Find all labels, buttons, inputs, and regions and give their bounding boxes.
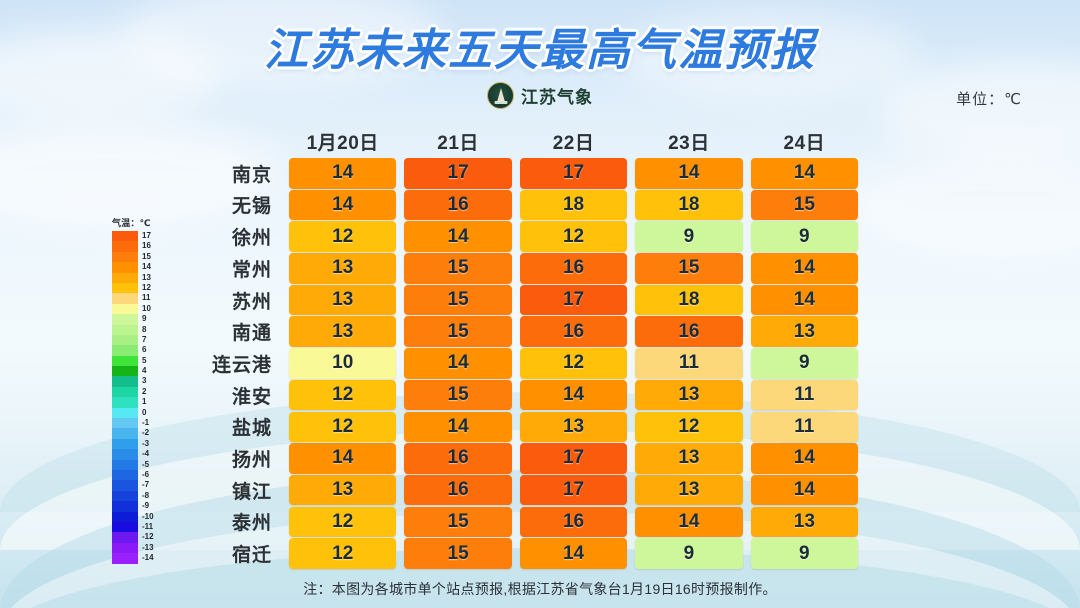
- table-row: 泰州1215161413: [190, 507, 862, 538]
- legend-swatch: [112, 408, 138, 418]
- temperature-cell-wrapper: 14: [285, 158, 400, 189]
- table-row: 镇江1316171314: [190, 475, 862, 506]
- legend-tick-label: 12: [142, 283, 151, 293]
- temperature-cell-wrapper: 16: [400, 190, 515, 221]
- temperature-cell: 14: [404, 221, 511, 252]
- legend-swatch: [112, 325, 138, 335]
- temperature-cell-wrapper: 14: [747, 285, 862, 316]
- legend-entry: 0: [112, 408, 164, 418]
- row-label-city: 南京: [190, 160, 285, 187]
- row-label-city: 无锡: [190, 191, 285, 218]
- temperature-cell-wrapper: 13: [747, 507, 862, 538]
- temperature-cell-wrapper: 15: [400, 253, 515, 284]
- temperature-cell: 14: [289, 190, 396, 221]
- temperature-cell: 9: [751, 221, 858, 252]
- legend-swatch: [112, 501, 138, 511]
- temperature-cell: 14: [751, 158, 858, 189]
- temperature-cell-wrapper: 14: [400, 221, 515, 252]
- temperature-cell-wrapper: 9: [747, 538, 862, 569]
- legend-tick-label: -11: [142, 522, 153, 532]
- temperature-cell: 12: [520, 221, 627, 252]
- legend-swatch: [112, 460, 138, 470]
- legend-swatch: [112, 314, 138, 324]
- temperature-cell: 10: [289, 348, 396, 379]
- temperature-cell-wrapper: 14: [516, 380, 631, 411]
- temperature-cell: 15: [635, 253, 742, 284]
- temperature-cell-wrapper: 15: [400, 507, 515, 538]
- temperature-cell: 14: [751, 475, 858, 506]
- legend-tick-label: 0: [142, 408, 146, 418]
- temperature-cell: 12: [289, 221, 396, 252]
- temperature-cell: 9: [751, 348, 858, 379]
- temperature-cell: 13: [635, 475, 742, 506]
- temperature-cell-wrapper: 13: [631, 475, 746, 506]
- temperature-cell: 14: [635, 507, 742, 538]
- legend-entry: 15: [112, 252, 164, 262]
- legend-swatch: [112, 366, 138, 376]
- temperature-cell: 12: [289, 507, 396, 538]
- legend-tick-label: 3: [142, 376, 146, 386]
- legend-tick-label: 17: [142, 231, 151, 241]
- temperature-cell: 14: [751, 285, 858, 316]
- temperature-cell: 12: [289, 538, 396, 569]
- legend-swatch: [112, 376, 138, 386]
- temperature-cell-wrapper: 14: [747, 443, 862, 474]
- legend-entry: 16: [112, 241, 164, 251]
- temperature-cell: 17: [520, 158, 627, 189]
- column-header-date-3: 23日: [631, 128, 746, 155]
- temperature-cell: 17: [520, 285, 627, 316]
- temperature-cell-wrapper: 13: [285, 253, 400, 284]
- temperature-cell-wrapper: 16: [516, 253, 631, 284]
- legend-swatch: [112, 293, 138, 303]
- legend-tick-label: -13: [142, 543, 154, 553]
- temperature-cell-wrapper: 12: [516, 221, 631, 252]
- temperature-cell-wrapper: 9: [747, 348, 862, 379]
- temperature-cell: 14: [289, 443, 396, 474]
- legend-entry: -10: [112, 512, 164, 522]
- legend-entry: -7: [112, 480, 164, 490]
- temperature-cell: 13: [289, 253, 396, 284]
- temperature-cell-wrapper: 11: [747, 380, 862, 411]
- temperature-cell-wrapper: 14: [747, 475, 862, 506]
- legend-tick-label: -8: [142, 491, 149, 501]
- legend-entry: 6: [112, 345, 164, 355]
- row-label-city: 淮安: [190, 382, 285, 409]
- temperature-cell-wrapper: 15: [400, 538, 515, 569]
- legend-entry: -8: [112, 491, 164, 501]
- legend-tick-label: -7: [142, 480, 149, 490]
- temperature-cell-wrapper: 12: [285, 221, 400, 252]
- temperature-cell-wrapper: 13: [631, 443, 746, 474]
- legend-entry: -12: [112, 532, 164, 542]
- legend-tick-label: -14: [142, 553, 154, 563]
- legend-tick-label: 9: [142, 314, 146, 324]
- temperature-cell-wrapper: 13: [285, 285, 400, 316]
- temperature-cell-wrapper: 18: [631, 190, 746, 221]
- legend-entry: 9: [112, 314, 164, 324]
- legend-entry: 8: [112, 325, 164, 335]
- organization-branding: 江苏气象: [0, 82, 1080, 109]
- legend-swatch: [112, 532, 138, 542]
- temperature-cell-wrapper: 11: [631, 348, 746, 379]
- legend-entry: -9: [112, 501, 164, 511]
- legend-tick-label: -10: [142, 512, 154, 522]
- temperature-cell: 14: [751, 253, 858, 284]
- temperature-cell-wrapper: 16: [400, 443, 515, 474]
- temperature-cell-wrapper: 9: [747, 221, 862, 252]
- temperature-cell-wrapper: 17: [516, 158, 631, 189]
- legend-swatch: [112, 428, 138, 438]
- table-row: 连云港101412119: [190, 348, 862, 379]
- temperature-cell-wrapper: 14: [285, 443, 400, 474]
- legend-entry: -2: [112, 428, 164, 438]
- unit-label: 单位：℃: [956, 88, 1022, 109]
- temperature-cell: 15: [404, 316, 511, 347]
- legend-entry: 12: [112, 283, 164, 293]
- legend-entry: 2: [112, 387, 164, 397]
- temperature-cell: 12: [520, 348, 627, 379]
- temperature-cell: 15: [404, 380, 511, 411]
- legend-colorbar: 17161514131211109876543210-1-2-3-4-5-6-7…: [112, 231, 164, 564]
- legend-tick-label: 13: [142, 273, 151, 283]
- temperature-cell-wrapper: 16: [400, 475, 515, 506]
- temperature-cell: 15: [404, 538, 511, 569]
- temperature-cell-wrapper: 9: [631, 538, 746, 569]
- temperature-cell-wrapper: 17: [516, 285, 631, 316]
- temperature-cell-wrapper: 12: [516, 348, 631, 379]
- legend-tick-label: -9: [142, 501, 149, 511]
- legend-swatch: [112, 241, 138, 251]
- temperature-cell: 17: [404, 158, 511, 189]
- table-body: 南京1417171414无锡1416181815徐州12141299常州1315…: [190, 158, 862, 569]
- legend-swatch: [112, 335, 138, 345]
- temperature-cell-wrapper: 15: [747, 190, 862, 221]
- temperature-cell-wrapper: 14: [747, 158, 862, 189]
- row-label-city: 徐州: [190, 223, 285, 250]
- row-label-city: 泰州: [190, 508, 285, 535]
- temperature-cell: 14: [404, 412, 511, 443]
- legend-entry: -6: [112, 470, 164, 480]
- row-label-city: 扬州: [190, 445, 285, 472]
- page-title-container: 江苏未来五天最高气温预报: [0, 14, 1080, 78]
- legend-tick-label: -2: [142, 428, 149, 438]
- temperature-cell-wrapper: 17: [516, 475, 631, 506]
- row-label-city: 常州: [190, 255, 285, 282]
- temperature-cell: 14: [404, 348, 511, 379]
- forecast-table: 1月20日21日22日23日24日 南京1417171414无锡14161818…: [190, 124, 862, 570]
- temperature-cell: 16: [520, 316, 627, 347]
- table-row: 苏州1315171814: [190, 285, 862, 316]
- legend-tick-label: 5: [142, 356, 146, 366]
- temperature-cell-wrapper: 15: [400, 380, 515, 411]
- legend-tick-label: 16: [142, 241, 151, 251]
- temperature-cell-wrapper: 13: [285, 316, 400, 347]
- legend-entry: -1: [112, 418, 164, 428]
- legend-swatch: [112, 512, 138, 522]
- table-row: 徐州12141299: [190, 221, 862, 252]
- legend-entry: 7: [112, 335, 164, 345]
- temperature-cell: 13: [751, 507, 858, 538]
- temperature-cell-wrapper: 14: [285, 190, 400, 221]
- legend-entry: 3: [112, 376, 164, 386]
- legend-swatch: [112, 273, 138, 283]
- temperature-cell-wrapper: 14: [747, 253, 862, 284]
- temperature-cell: 18: [635, 190, 742, 221]
- legend-entry: 13: [112, 273, 164, 283]
- column-header-date-4: 24日: [747, 128, 862, 155]
- temperature-cell-wrapper: 16: [516, 316, 631, 347]
- temperature-cell: 13: [289, 285, 396, 316]
- legend-swatch: [112, 231, 138, 241]
- table-row: 淮安1215141311: [190, 380, 862, 411]
- temperature-cell: 15: [404, 253, 511, 284]
- temperature-cell: 16: [404, 190, 511, 221]
- temperature-cell: 13: [289, 316, 396, 347]
- table-row: 常州1315161514: [190, 253, 862, 284]
- temperature-cell: 18: [520, 190, 627, 221]
- legend-entry: -13: [112, 543, 164, 553]
- legend-swatch: [112, 397, 138, 407]
- temperature-cell-wrapper: 14: [631, 158, 746, 189]
- temperature-cell: 11: [751, 380, 858, 411]
- temperature-cell: 14: [520, 380, 627, 411]
- legend-swatch: [112, 356, 138, 366]
- temperature-cell: 16: [404, 443, 511, 474]
- temperature-cell-wrapper: 12: [285, 538, 400, 569]
- legend-swatch: [112, 439, 138, 449]
- row-label-city: 连云港: [190, 350, 285, 377]
- legend-swatch: [112, 345, 138, 355]
- legend-swatch: [112, 418, 138, 428]
- legend-title: 气温：℃: [112, 216, 168, 229]
- legend-entry: -11: [112, 522, 164, 532]
- legend-entry: 1: [112, 397, 164, 407]
- temperature-cell-wrapper: 13: [516, 412, 631, 443]
- temperature-cell-wrapper: 18: [516, 190, 631, 221]
- row-label-city: 盐城: [190, 413, 285, 440]
- legend-entry: 4: [112, 366, 164, 376]
- legend-tick-label: -6: [142, 470, 149, 480]
- legend-tick-label: -3: [142, 439, 149, 449]
- temperature-cell: 14: [751, 443, 858, 474]
- temperature-cell-wrapper: 17: [400, 158, 515, 189]
- temperature-cell-wrapper: 12: [285, 412, 400, 443]
- temperature-cell: 13: [289, 475, 396, 506]
- temperature-cell-wrapper: 14: [400, 348, 515, 379]
- weather-bureau-logo-icon: [487, 82, 514, 109]
- temperature-cell: 16: [520, 507, 627, 538]
- legend-entry: 17: [112, 231, 164, 241]
- temperature-cell-wrapper: 12: [285, 507, 400, 538]
- legend-tick-label: -5: [142, 460, 149, 470]
- legend-swatch: [112, 283, 138, 293]
- legend-tick-label: 8: [142, 325, 146, 335]
- temperature-cell: 18: [635, 285, 742, 316]
- table-row: 扬州1416171314: [190, 443, 862, 474]
- legend-swatch: [112, 553, 138, 563]
- temperature-cell-wrapper: 14: [631, 507, 746, 538]
- table-row: 盐城1214131211: [190, 412, 862, 443]
- legend-swatch: [112, 543, 138, 553]
- legend-swatch: [112, 387, 138, 397]
- legend-swatch: [112, 304, 138, 314]
- legend-tick-label: 6: [142, 345, 146, 355]
- legend-tick-label: -4: [142, 449, 149, 459]
- temperature-cell: 14: [289, 158, 396, 189]
- column-header-date-1: 21日: [400, 128, 515, 155]
- legend-tick-label: -1: [142, 418, 149, 428]
- legend-entry: 10: [112, 304, 164, 314]
- legend-tick-label: 15: [142, 252, 151, 262]
- table-header-row: 1月20日21日22日23日24日: [190, 124, 862, 158]
- temperature-cell-wrapper: 18: [631, 285, 746, 316]
- temperature-legend: 气温：℃ 17161514131211109876543210-1-2-3-4-…: [112, 216, 168, 564]
- legend-swatch: [112, 262, 138, 272]
- table-row: 宿迁12151499: [190, 538, 862, 569]
- temperature-cell-wrapper: 15: [400, 316, 515, 347]
- column-header-date-0: 1月20日: [285, 128, 400, 155]
- legend-tick-label: -12: [142, 532, 154, 542]
- temperature-cell-wrapper: 9: [631, 221, 746, 252]
- temperature-cell: 12: [635, 412, 742, 443]
- temperature-cell-wrapper: 13: [631, 380, 746, 411]
- temperature-cell: 9: [635, 538, 742, 569]
- temperature-cell: 13: [520, 412, 627, 443]
- legend-entry: 11: [112, 293, 164, 303]
- table-row: 南通1315161613: [190, 316, 862, 347]
- cloud-shape: [840, 150, 1080, 260]
- footer-note: 注：本图为各城市单个站点预报,根据江苏省气象台1月19日16时预报制作。: [0, 579, 1080, 599]
- organization-name: 江苏气象: [521, 83, 593, 108]
- legend-swatch: [112, 252, 138, 262]
- temperature-cell: 17: [520, 443, 627, 474]
- temperature-cell: 13: [751, 316, 858, 347]
- table-row: 南京1417171414: [190, 158, 862, 189]
- temperature-cell-wrapper: 13: [747, 316, 862, 347]
- legend-swatch: [112, 470, 138, 480]
- legend-tick-label: 1: [142, 397, 146, 407]
- temperature-cell-wrapper: 12: [631, 412, 746, 443]
- legend-swatch: [112, 480, 138, 490]
- legend-tick-label: 11: [142, 293, 150, 303]
- temperature-cell-wrapper: 17: [516, 443, 631, 474]
- legend-entry: 5: [112, 356, 164, 366]
- temperature-cell: 15: [751, 190, 858, 221]
- temperature-cell: 13: [635, 443, 742, 474]
- table-row: 无锡1416181815: [190, 190, 862, 221]
- legend-tick-label: 2: [142, 387, 146, 397]
- row-label-city: 宿迁: [190, 540, 285, 567]
- legend-tick-label: 7: [142, 335, 146, 345]
- temperature-cell-wrapper: 13: [285, 475, 400, 506]
- row-label-city: 镇江: [190, 477, 285, 504]
- temperature-cell: 12: [289, 412, 396, 443]
- row-label-city: 苏州: [190, 287, 285, 314]
- temperature-cell: 11: [751, 412, 858, 443]
- temperature-cell-wrapper: 11: [747, 412, 862, 443]
- temperature-cell: 16: [520, 253, 627, 284]
- temperature-cell-wrapper: 15: [631, 253, 746, 284]
- temperature-cell-wrapper: 16: [631, 316, 746, 347]
- temperature-cell-wrapper: 10: [285, 348, 400, 379]
- temperature-cell: 9: [635, 221, 742, 252]
- legend-entry: -3: [112, 439, 164, 449]
- temperature-cell: 9: [751, 538, 858, 569]
- legend-entry: -14: [112, 553, 164, 563]
- legend-tick-label: 14: [142, 262, 151, 272]
- temperature-cell: 14: [635, 158, 742, 189]
- temperature-cell-wrapper: 16: [516, 507, 631, 538]
- legend-swatch: [112, 522, 138, 532]
- temperature-cell: 11: [635, 348, 742, 379]
- temperature-cell-wrapper: 14: [516, 538, 631, 569]
- row-label-city: 南通: [190, 318, 285, 345]
- temperature-cell: 17: [520, 475, 627, 506]
- temperature-cell: 12: [289, 380, 396, 411]
- temperature-cell: 15: [404, 285, 511, 316]
- temperature-cell: 14: [520, 538, 627, 569]
- legend-entry: 14: [112, 262, 164, 272]
- temperature-cell: 16: [404, 475, 511, 506]
- temperature-cell: 15: [404, 507, 511, 538]
- legend-swatch: [112, 491, 138, 501]
- temperature-cell-wrapper: 15: [400, 285, 515, 316]
- legend-entry: -5: [112, 460, 164, 470]
- temperature-cell: 16: [635, 316, 742, 347]
- column-header-date-2: 22日: [516, 128, 631, 155]
- legend-tick-label: 4: [142, 366, 146, 376]
- legend-tick-label: 10: [142, 304, 151, 314]
- legend-swatch: [112, 449, 138, 459]
- legend-entry: -4: [112, 449, 164, 459]
- page-title: 江苏未来五天最高气温预报: [264, 14, 816, 78]
- temperature-cell: 13: [635, 380, 742, 411]
- temperature-cell-wrapper: 14: [400, 412, 515, 443]
- temperature-cell-wrapper: 12: [285, 380, 400, 411]
